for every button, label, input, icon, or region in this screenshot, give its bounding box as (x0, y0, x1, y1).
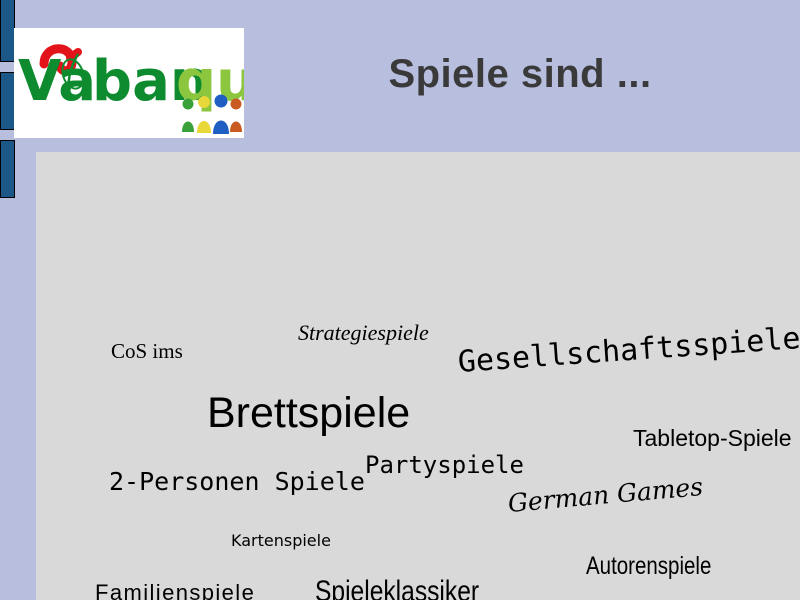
word-kartenspiele: Kartenspiele (231, 533, 331, 549)
logo-pawn-green (182, 99, 194, 133)
decorative-bar-bottom (0, 140, 15, 198)
vabanque-logo: Va ban que (14, 28, 244, 138)
logo-pawn-yellow (197, 96, 211, 133)
word-spieleklassiker: Spieleklassiker (315, 577, 479, 600)
logo-pawn-blue (213, 95, 229, 135)
vabanque-logo-graphic: Va ban que (14, 28, 244, 138)
word-strategiespiele: Strategiespiele (298, 322, 429, 344)
word-tabletop-spiele: Tabletop-Spiele (633, 427, 792, 450)
word-cos-ims: CoS ims (111, 341, 183, 362)
word-brettspiele: Brettspiele (207, 392, 410, 435)
presentation-slide: Va ban que Spiele sind ... C (0, 0, 800, 600)
word-familienspiele: Familienspiele (95, 582, 255, 600)
word-gesellschaftsspiele: Gesellschaftsspiele (457, 324, 800, 378)
word-2-personen-spiele: 2-Personen Spiele (109, 469, 365, 494)
content-panel: CoS ims Strategiespiele Gesellschaftsspi… (36, 152, 800, 600)
logo-text-va: Va (18, 49, 96, 114)
word-german-games: German Games (507, 474, 704, 516)
logo-pawn-orange (230, 99, 242, 133)
slide-title: Spiele sind ... (300, 52, 740, 97)
word-autorenspiele: Autorenspiele (586, 554, 711, 579)
decorative-bar-top (0, 0, 15, 62)
decorative-bar-middle (0, 72, 15, 130)
word-partyspiele: Partyspiele (365, 453, 524, 477)
